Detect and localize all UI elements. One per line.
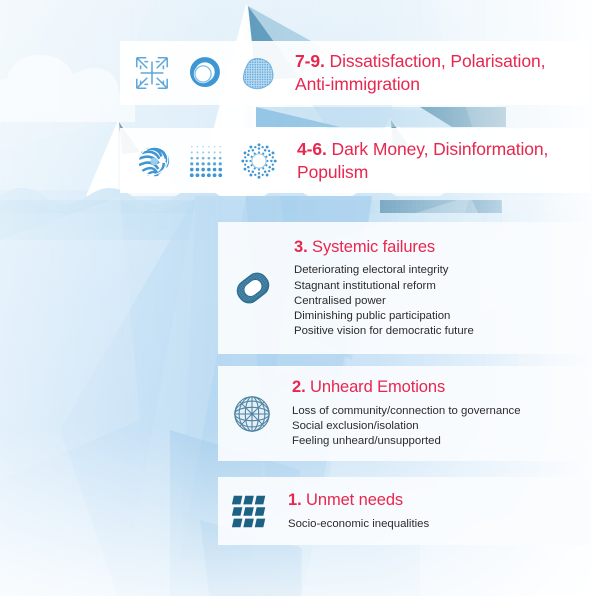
list-item: Diminishing public participation: [294, 309, 474, 324]
band-2-number: 2.: [292, 378, 306, 396]
infographic-canvas: 7-9. Dissatisfaction, Polarisation, Anti…: [0, 0, 602, 602]
band-7-9-icons: [120, 54, 277, 92]
list-item: Centralised power: [294, 294, 474, 309]
band-3-icons: [218, 265, 276, 311]
band-1-icons: [218, 491, 270, 531]
list-item: Loss of community/connection to governan…: [292, 404, 521, 419]
band-2-title: Unheard Emotions: [310, 378, 445, 396]
band-1-title-row: 1. Unmet needs: [288, 490, 429, 511]
band-3-text: 3. Systemic failures Deteriorating elect…: [276, 237, 484, 340]
radial-burst-icon: [239, 141, 279, 181]
wireframe-globe-icon: [230, 392, 274, 436]
blob-mesh-icon: [237, 54, 277, 92]
list-item: Socio-economic inequalities: [288, 517, 429, 532]
band-7-9-title: Dissatisfaction, Polarisation, Anti-immi…: [295, 51, 545, 94]
band-2-unheard-emotions: 2. Unheard Emotions Loss of community/co…: [218, 366, 590, 461]
list-item: Feeling unheard/unsupported: [292, 434, 521, 449]
dot-grid-icon: [187, 142, 225, 180]
band-4-6-number: 4-6.: [297, 139, 327, 159]
band-4-6: 4-6. Dark Money, Disinformation, Populis…: [120, 128, 590, 193]
band-4-6-text: 4-6. Dark Money, Disinformation, Populis…: [279, 138, 590, 184]
band-1-title: Unmet needs: [306, 491, 403, 509]
list-item: Social exclusion/isolation: [292, 419, 521, 434]
band-1-bullet-list: Socio-economic inequalities: [288, 517, 429, 532]
swirl-sphere-icon: [133, 141, 173, 181]
tilted-ring-icon: [230, 265, 276, 311]
band-3-systemic-failures: 3. Systemic failures Deteriorating elect…: [218, 222, 590, 354]
band-2-icons: [218, 392, 274, 436]
band-2-bullet-list: Loss of community/connection to governan…: [292, 404, 521, 450]
list-item: Deteriorating electoral integrity: [294, 263, 474, 278]
band-7-9-headline: 7-9. Dissatisfaction, Polarisation, Anti…: [295, 50, 580, 96]
band-4-6-title: Dark Money, Disinformation, Populism: [297, 139, 548, 182]
grid-blocks-icon: [230, 491, 270, 531]
band-7-9-text: 7-9. Dissatisfaction, Polarisation, Anti…: [277, 50, 590, 96]
band-4-6-headline: 4-6. Dark Money, Disinformation, Populis…: [297, 138, 580, 184]
band-2-text: 2. Unheard Emotions Loss of community/co…: [274, 377, 531, 449]
band-1-unmet-needs: 1. Unmet needs Socio-economic inequaliti…: [218, 477, 590, 545]
list-item: Stagnant institutional reform: [294, 279, 474, 294]
band-1-text: 1. Unmet needs Socio-economic inequaliti…: [270, 490, 439, 532]
band-7-9: 7-9. Dissatisfaction, Polarisation, Anti…: [120, 41, 590, 105]
band-3-bullet-list: Deteriorating electoral integrity Stagna…: [294, 263, 474, 339]
band-1-number: 1.: [288, 491, 302, 509]
band-3-title-row: 3. Systemic failures: [294, 237, 474, 258]
ring-torus-icon: [185, 54, 223, 92]
band-3-title: Systemic failures: [312, 238, 435, 256]
band-2-title-row: 2. Unheard Emotions: [292, 377, 521, 398]
band-3-number: 3.: [294, 238, 308, 256]
expand-arrows-icon: [133, 54, 171, 92]
band-7-9-number: 7-9.: [295, 51, 325, 71]
band-4-6-icons: [120, 141, 279, 181]
list-item: Positive vision for democratic future: [294, 324, 474, 339]
